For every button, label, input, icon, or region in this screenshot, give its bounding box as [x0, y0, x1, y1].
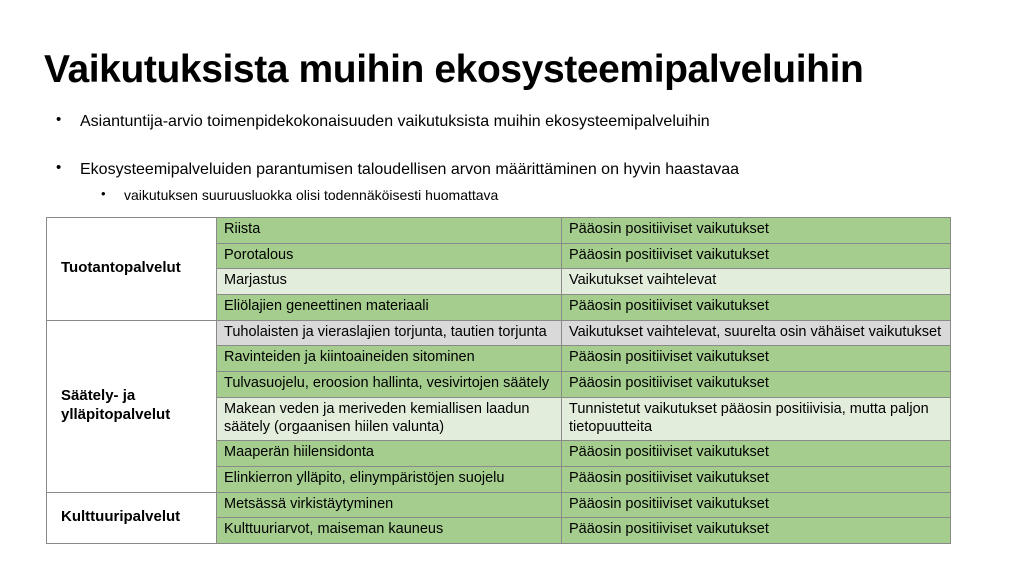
- service-cell: Elinkierron ylläpito, elinympäristöjen s…: [217, 466, 562, 492]
- bullet-item-2-sub-1: vaikutuksen suuruusluokka olisi todennäk…: [96, 187, 990, 205]
- group-label-saately-ja-yllapitopalvelut: Säätely- ja ylläpitopalvelut: [47, 320, 217, 492]
- service-cell: Tulvasuojelu, eroosion hallinta, vesivir…: [217, 372, 562, 398]
- effect-cell: Pääosin positiiviset vaikutukset: [562, 372, 951, 398]
- service-cell: Porotalous: [217, 243, 562, 269]
- effect-cell: Pääosin positiiviset vaikutukset: [562, 295, 951, 321]
- bullet-item-1: Asiantuntija-arvio toimenpidekokonaisuud…: [50, 112, 990, 132]
- effect-cell: Pääosin positiiviset vaikutukset: [562, 346, 951, 372]
- table-row: Säätely- ja ylläpitopalvelut Tuholaisten…: [47, 320, 951, 346]
- table-row: Kulttuuripalvelut Metsässä virkistäytymi…: [47, 492, 951, 518]
- slide-canvas: Vaikutuksista muihin ekosysteemipalvelui…: [0, 0, 1030, 574]
- effect-cell: Pääosin positiiviset vaikutukset: [562, 243, 951, 269]
- service-cell: Ravinteiden ja kiintoaineiden sitominen: [217, 346, 562, 372]
- effect-cell: Tunnistetut vaikutukset pääosin positiiv…: [562, 397, 951, 440]
- service-cell: Eliölajien geneettinen materiaali: [217, 295, 562, 321]
- service-cell: Metsässä virkistäytyminen: [217, 492, 562, 518]
- effect-cell: Pääosin positiiviset vaikutukset: [562, 466, 951, 492]
- service-cell: Riista: [217, 218, 562, 244]
- ecosystem-services-table: Tuotantopalvelut Riista Pääosin positiiv…: [46, 217, 951, 544]
- effect-cell: Pääosin positiiviset vaikutukset: [562, 518, 951, 544]
- group-label-tuotantopalvelut: Tuotantopalvelut: [47, 218, 217, 321]
- service-cell: Marjastus: [217, 269, 562, 295]
- bullet-list: Asiantuntija-arvio toimenpidekokonaisuud…: [50, 112, 990, 205]
- group-label-kulttuuripalvelut: Kulttuuripalvelut: [47, 492, 217, 543]
- table-body: Tuotantopalvelut Riista Pääosin positiiv…: [47, 218, 951, 544]
- service-cell: Maaperän hiilensidonta: [217, 441, 562, 467]
- effect-cell: Pääosin positiiviset vaikutukset: [562, 441, 951, 467]
- table-row: Tuotantopalvelut Riista Pääosin positiiv…: [47, 218, 951, 244]
- bullet-spacer: [50, 132, 990, 160]
- service-cell: Kulttuuriarvot, maiseman kauneus: [217, 518, 562, 544]
- service-cell: Makean veden ja meriveden kemiallisen la…: [217, 397, 562, 440]
- bullet-item-2: Ekosysteemipalveluiden parantumisen talo…: [50, 160, 990, 180]
- effect-cell: Pääosin positiiviset vaikutukset: [562, 218, 951, 244]
- page-title: Vaikutuksista muihin ekosysteemipalvelui…: [44, 49, 994, 91]
- effect-cell: Pääosin positiiviset vaikutukset: [562, 492, 951, 518]
- effect-cell: Vaikutukset vaihtelevat, suurelta osin v…: [562, 320, 951, 346]
- effect-cell: Vaikutukset vaihtelevat: [562, 269, 951, 295]
- service-cell: Tuholaisten ja vieraslajien torjunta, ta…: [217, 320, 562, 346]
